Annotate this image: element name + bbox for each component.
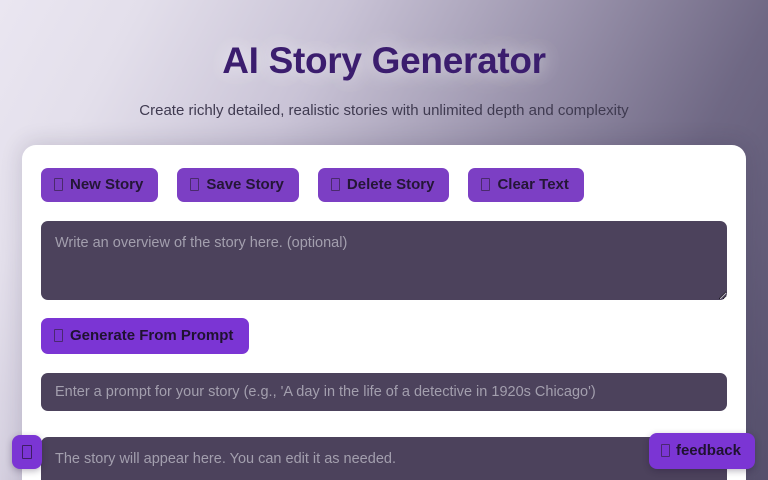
missing-glyph-icon (22, 445, 32, 459)
main-card: New Story Save Story Delete Story Clear … (22, 145, 746, 480)
clear-text-button[interactable]: Clear Text (468, 168, 583, 202)
save-story-label: Save Story (206, 177, 284, 192)
missing-glyph-icon (54, 178, 63, 191)
page-title: AI Story Generator (0, 40, 768, 82)
generate-from-prompt-button[interactable]: Generate From Prompt (41, 318, 249, 354)
new-story-label: New Story (70, 177, 143, 192)
clear-text-label: Clear Text (497, 177, 568, 192)
overview-textarea[interactable] (41, 221, 727, 300)
feedback-button[interactable]: feedback (649, 433, 755, 469)
missing-glyph-icon (190, 178, 199, 191)
story-textarea[interactable] (41, 437, 727, 480)
delete-story-button[interactable]: Delete Story (318, 168, 450, 202)
save-story-button[interactable]: Save Story (177, 168, 299, 202)
page-subtitle: Create richly detailed, realistic storie… (0, 102, 768, 119)
missing-glyph-icon (331, 178, 340, 191)
generate-from-prompt-label: Generate From Prompt (70, 328, 233, 343)
missing-glyph-icon (54, 329, 63, 342)
feedback-label: feedback (676, 443, 741, 458)
delete-story-label: Delete Story (347, 177, 435, 192)
missing-glyph-icon (661, 444, 670, 457)
new-story-button[interactable]: New Story (41, 168, 158, 202)
story-toolbar: New Story Save Story Delete Story Clear … (22, 145, 746, 202)
page-header: AI Story Generator Create richly detaile… (0, 0, 768, 119)
prompt-input[interactable] (41, 373, 727, 411)
missing-glyph-icon (481, 178, 490, 191)
form-fields: Generate From Prompt (22, 221, 746, 480)
floating-action-button[interactable] (12, 435, 42, 469)
